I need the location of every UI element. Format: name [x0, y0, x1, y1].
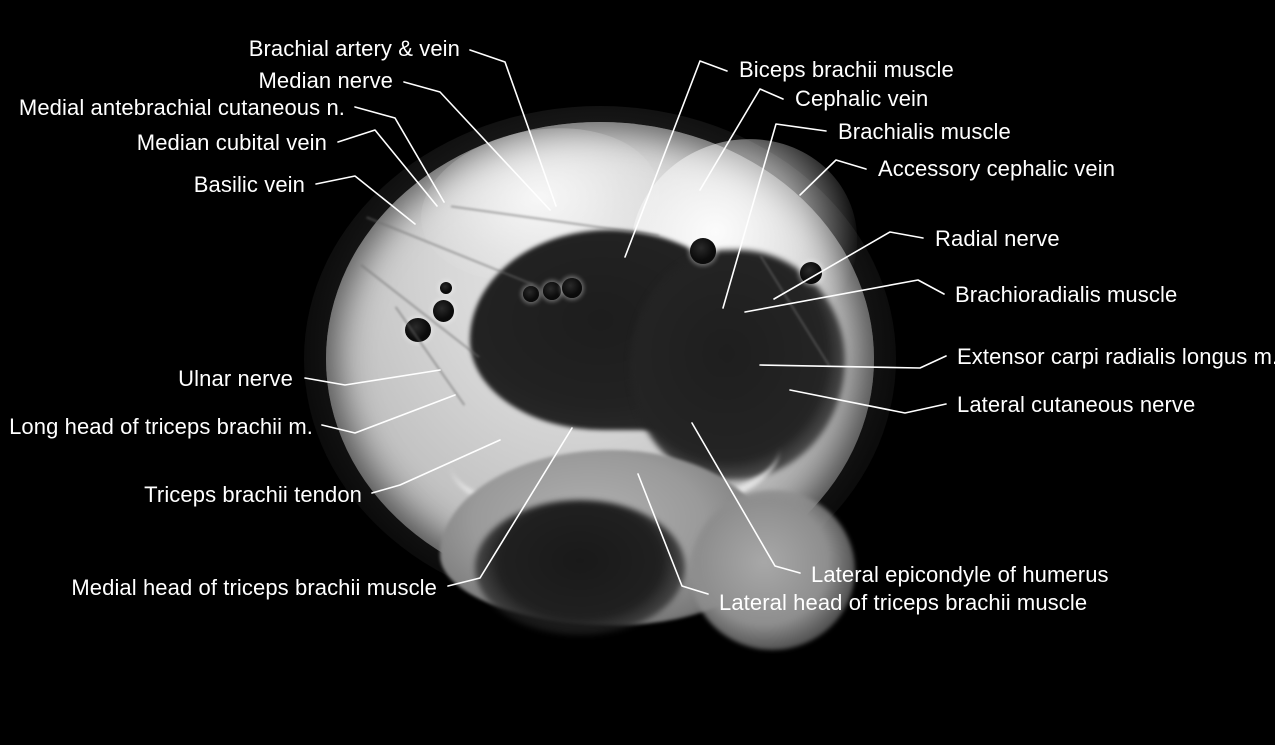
leader-median-cubital-vein — [338, 130, 437, 206]
label-brachial-artery-vein: Brachial artery & vein — [0, 36, 460, 62]
label-lateral-epicondyle-of-humerus: Lateral epicondyle of humerus — [811, 562, 1109, 588]
label-ulnar-nerve: Ulnar nerve — [0, 366, 293, 392]
leader-brachialis-muscle — [723, 124, 826, 308]
leader-biceps-brachii-muscle — [625, 61, 727, 257]
label-lateral-cutaneous-nerve: Lateral cutaneous nerve — [957, 392, 1195, 418]
label-brachialis-muscle: Brachialis muscle — [838, 119, 1011, 145]
leader-extensor-carpi-radialis-longus — [760, 356, 946, 368]
label-basilic-vein: Basilic vein — [0, 172, 305, 198]
leader-triceps-brachii-tendon — [372, 440, 500, 493]
leader-medial-antebrachial-cutaneous-nerve — [355, 107, 444, 202]
leader-median-nerve — [404, 82, 550, 210]
leader-long-head-of-triceps — [322, 395, 455, 433]
leader-lateral-epicondyle — [692, 423, 800, 573]
label-cephalic-vein: Cephalic vein — [795, 86, 928, 112]
leader-lateral-cutaneous-nerve — [790, 390, 946, 413]
leader-brachial-artery-vein — [470, 50, 556, 206]
leader-ulnar-nerve — [305, 370, 440, 385]
leader-lateral-head-of-triceps — [638, 474, 708, 594]
mri-figure: Brachial artery & vein Median nerve Medi… — [0, 0, 1275, 745]
leader-radial-nerve — [774, 232, 923, 299]
label-medial-antebrachial-cutaneous-nerve: Medial antebrachial cutaneous n. — [0, 95, 345, 121]
label-triceps-brachii-tendon: Triceps brachii tendon — [0, 482, 362, 508]
label-extensor-carpi-radialis-longus-muscle: Extensor carpi radialis longus m. — [957, 344, 1275, 370]
label-long-head-of-triceps-brachii-muscle: Long head of triceps brachii m. — [0, 414, 313, 440]
leader-medial-head-of-triceps — [448, 428, 572, 586]
leader-basilic-vein — [316, 176, 415, 224]
label-medial-head-of-triceps-brachii-muscle: Medial head of triceps brachii muscle — [0, 575, 437, 601]
label-brachioradialis-muscle: Brachioradialis muscle — [955, 282, 1177, 308]
leader-brachioradialis-muscle — [745, 280, 944, 312]
leader-accessory-cephalic-vein — [800, 160, 866, 195]
label-median-cubital-vein: Median cubital vein — [0, 130, 327, 156]
label-accessory-cephalic-vein: Accessory cephalic vein — [878, 156, 1115, 182]
label-lateral-head-of-triceps-brachii-muscle: Lateral head of triceps brachii muscle — [719, 590, 1087, 616]
label-biceps-brachii-muscle: Biceps brachii muscle — [739, 57, 954, 83]
label-radial-nerve: Radial nerve — [935, 226, 1060, 252]
leader-cephalic-vein — [700, 89, 783, 190]
label-median-nerve: Median nerve — [0, 68, 393, 94]
